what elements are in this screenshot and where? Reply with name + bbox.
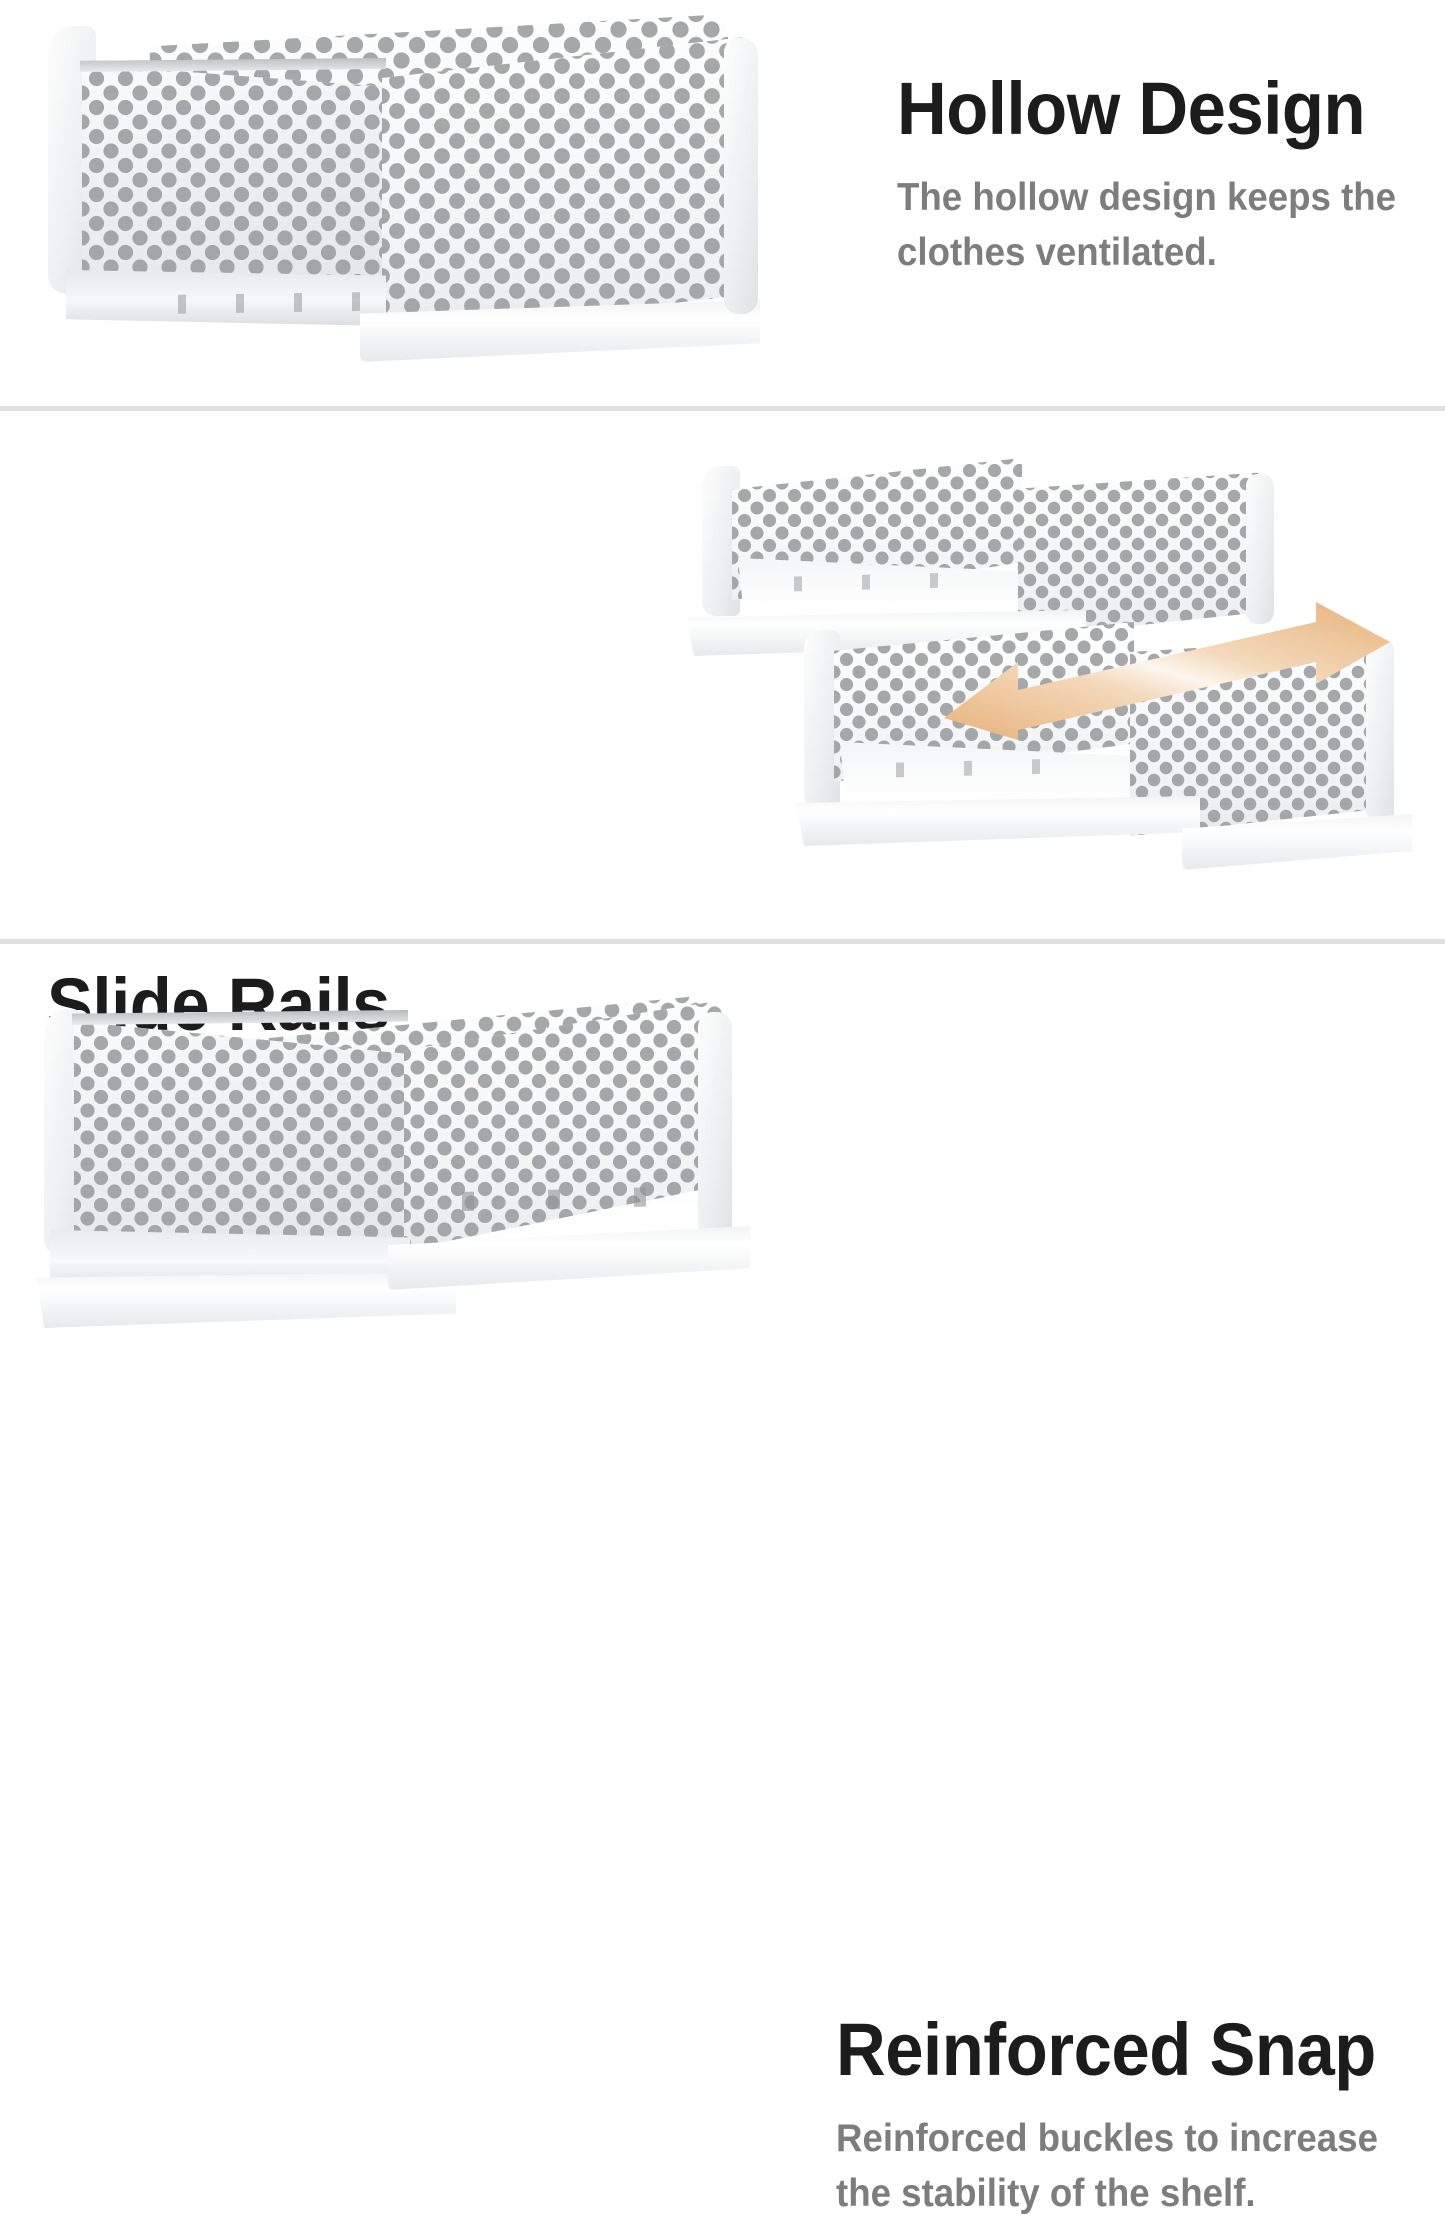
feature-section-slide-rails: Slide Rails Stable stacking and easy sli… <box>0 412 1445 943</box>
feature-section-hollow-design: Hollow Design The hollow design keeps th… <box>0 0 1445 410</box>
feature-heading: Hollow Design <box>897 72 1418 146</box>
feature-text-hollow-design: Hollow Design The hollow design keeps th… <box>897 72 1445 281</box>
product-feature-infographic: Hollow Design The hollow design keeps th… <box>0 0 1445 1358</box>
product-image-hollow-design <box>30 8 790 398</box>
lower-basket-base-rail <box>796 796 1200 846</box>
feature-section-reinforced-snap: Reinforced Snap Reinforced buckles to in… <box>0 945 1445 1358</box>
basket-front-rim <box>72 1010 408 1025</box>
basket-corner-post-right <box>724 38 758 314</box>
basket-side-panel-right <box>382 36 754 336</box>
double-headed-arrow-icon <box>942 600 1392 740</box>
section-divider-1 <box>0 406 1445 411</box>
feature-heading: Reinforced Snap <box>836 2013 1413 2087</box>
feature-subtitle: The hollow design keeps the clothes vent… <box>897 170 1423 281</box>
feature-text-reinforced-snap: Reinforced Snap Reinforced buckles to in… <box>836 2013 1445 2222</box>
product-image-slide-rails <box>680 450 1445 930</box>
basket-corner-post-right <box>698 1012 732 1244</box>
slide-direction-arrow <box>942 600 1392 740</box>
product-image-reinforced-snap <box>28 990 798 1335</box>
section-divider-2 <box>0 939 1445 944</box>
feature-subtitle: Reinforced buckles to increase the stabi… <box>836 2111 1419 2222</box>
basket-snap-tabs <box>160 292 370 314</box>
